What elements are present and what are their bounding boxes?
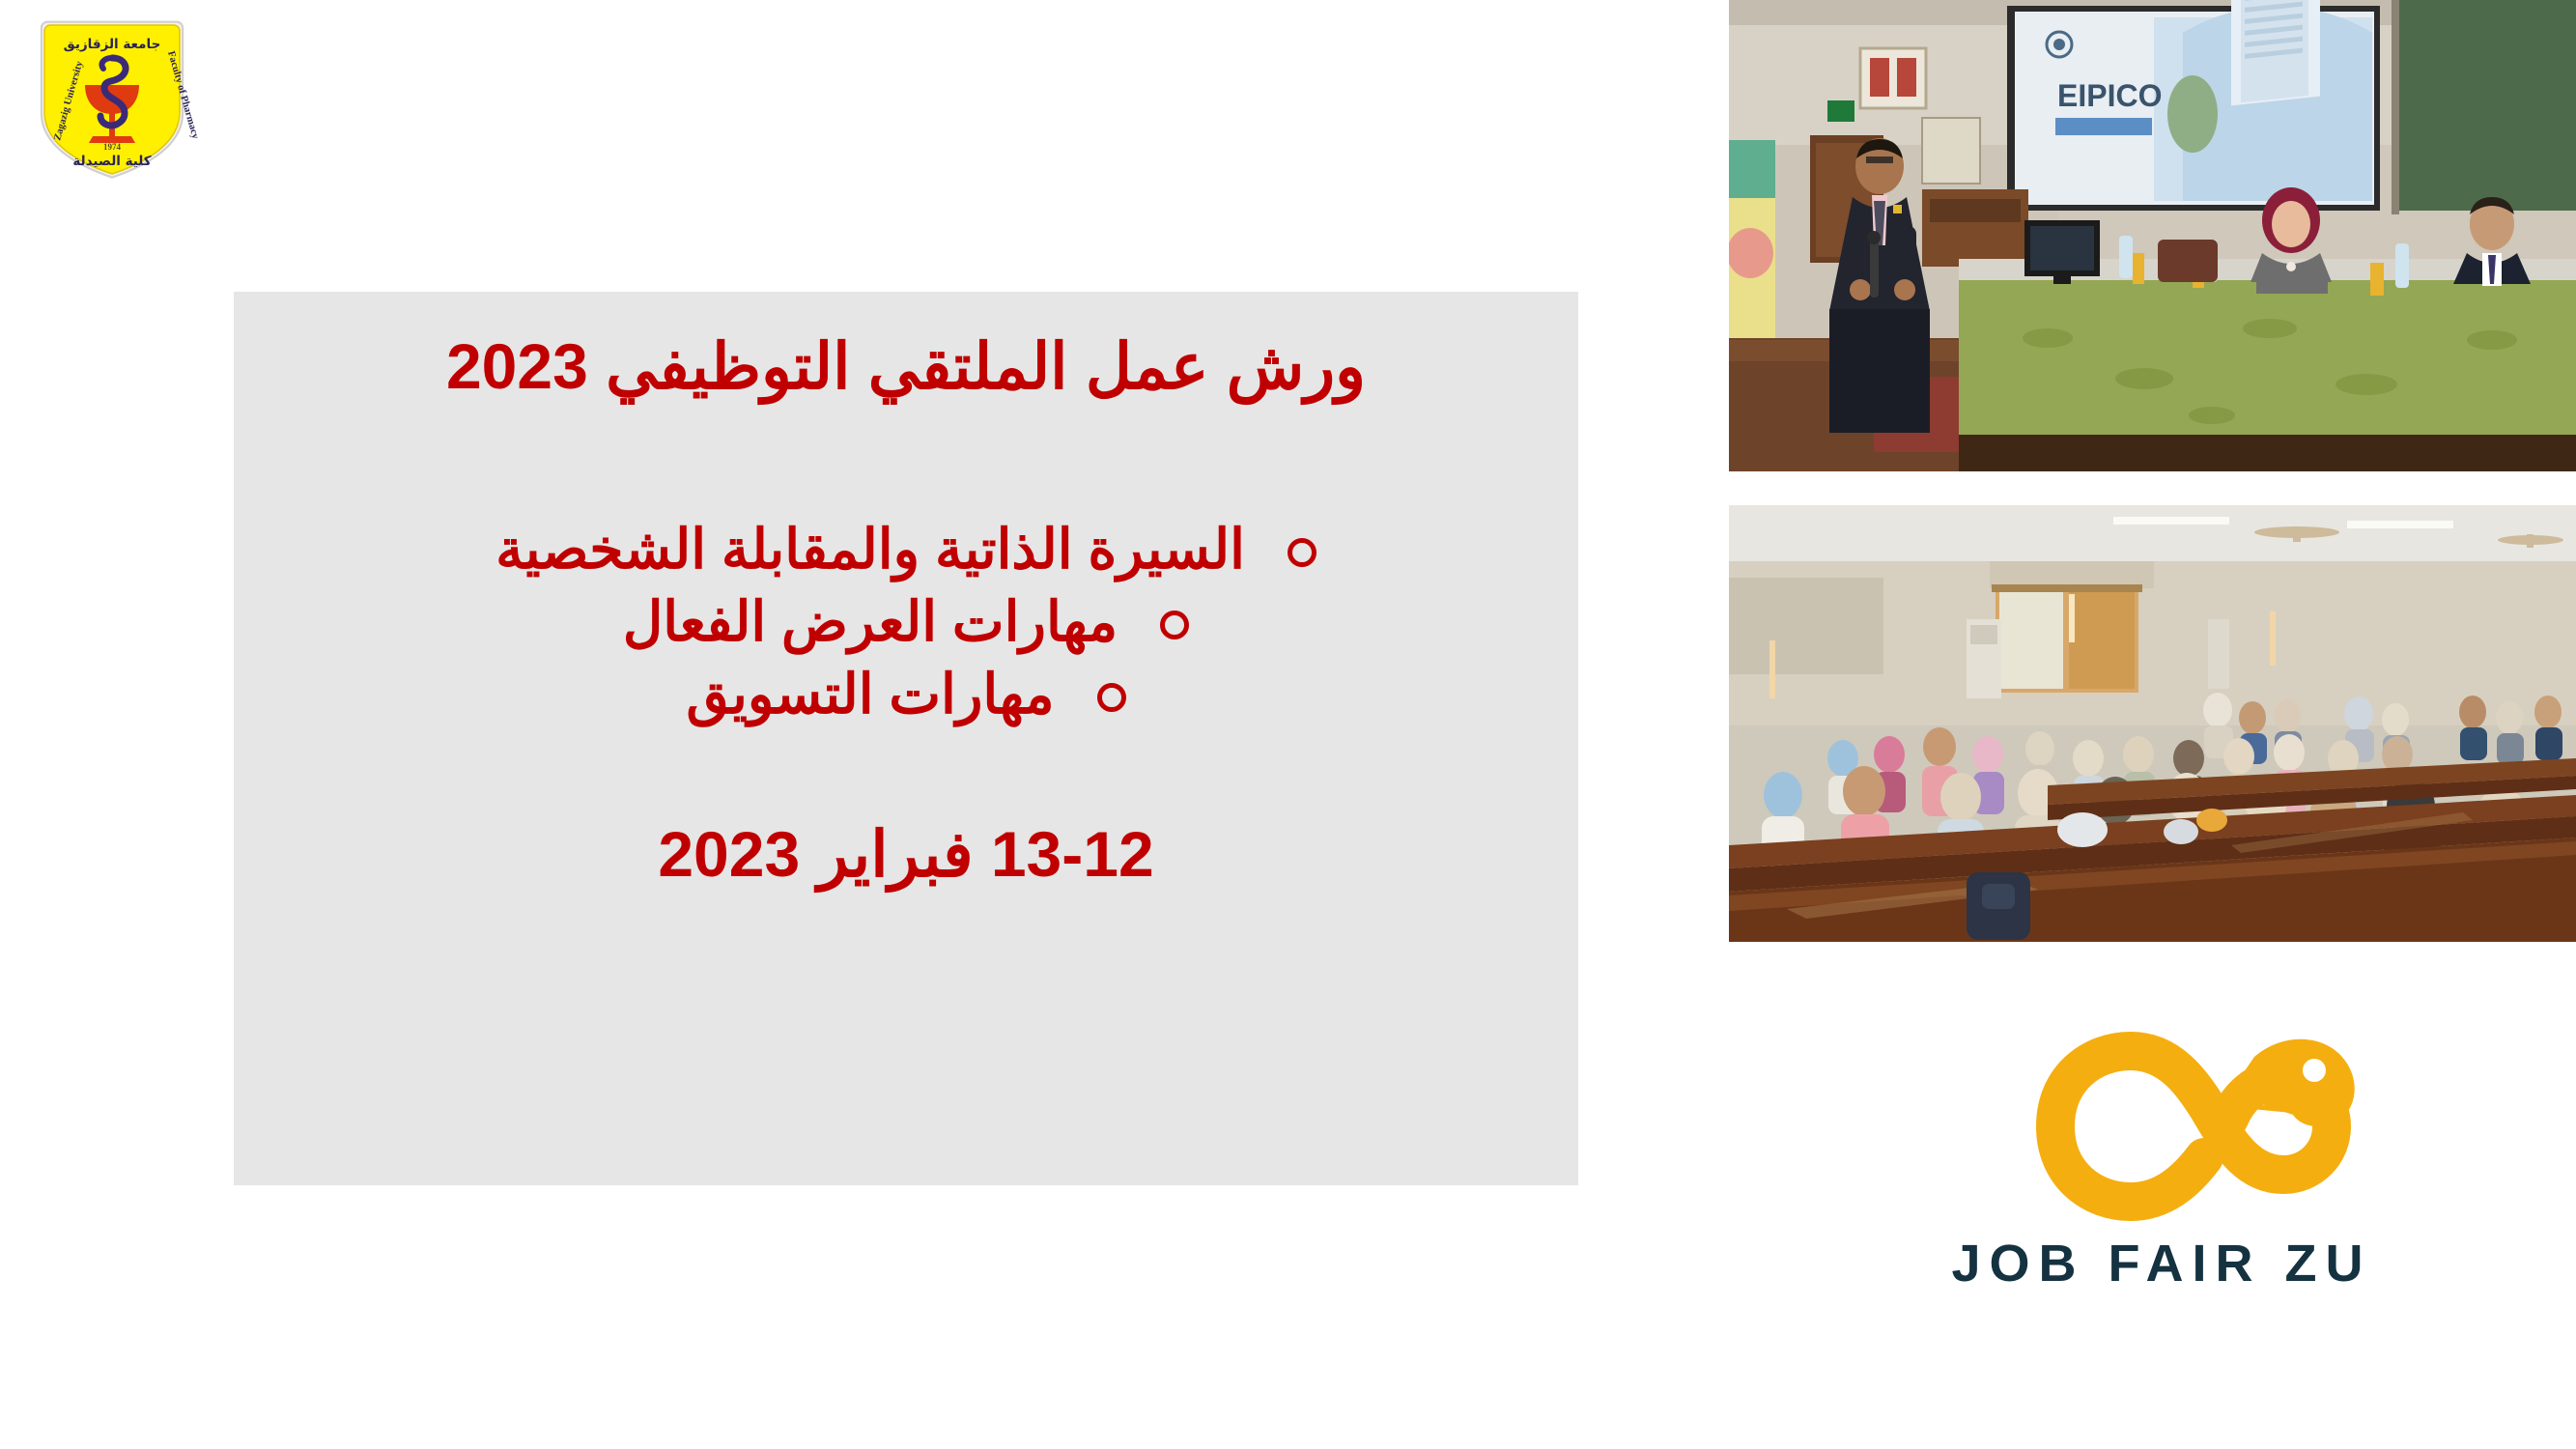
job-fair-zu-logo: JOB FAIR ZU — [1911, 1022, 2413, 1312]
crest-arabic-top: جامعة الزقازيق — [64, 37, 161, 52]
snake-infinity-icon — [1911, 1022, 2413, 1230]
bullet-circle-icon — [1288, 538, 1316, 567]
bullet-circle-icon — [1097, 683, 1126, 712]
workshop-label: مهارات التسويق — [686, 659, 1054, 731]
poster-title: ورش عمل الملتقي التوظيفي 2023 — [234, 330, 1578, 404]
seminar-panel-photo: EIPICO — [1729, 0, 2576, 471]
bullet-circle-icon — [1160, 611, 1189, 639]
workshop-list: السيرة الذاتية والمقابلة الشخصية مهارات … — [234, 514, 1578, 732]
list-item: السيرة الذاتية والمقابلة الشخصية — [234, 514, 1578, 586]
crest-year: 1974 — [103, 142, 122, 152]
event-date: 13-12 فبراير 2023 — [234, 818, 1578, 892]
crest-arabic-bottom: كلية الصيدلة — [72, 154, 151, 169]
workshop-label: مهارات العرض الفعال — [623, 586, 1118, 659]
list-item: مهارات التسويق — [234, 659, 1578, 731]
job-fair-zu-wordmark: JOB FAIR ZU — [1911, 1237, 2413, 1290]
audience-lecture-hall-photo — [1729, 505, 2576, 942]
list-item: مهارات العرض الفعال — [234, 586, 1578, 659]
slide-wordmark: EIPICO — [2057, 78, 2162, 113]
workshop-label: السيرة الذاتية والمقابلة الشخصية — [495, 514, 1245, 586]
poster-content-panel: ورش عمل الملتقي التوظيفي 2023 السيرة الذ… — [234, 292, 1578, 1185]
university-crest-logo: جامعة الزقازيق كلية الصيدلة Zagazig Univ… — [21, 14, 203, 180]
